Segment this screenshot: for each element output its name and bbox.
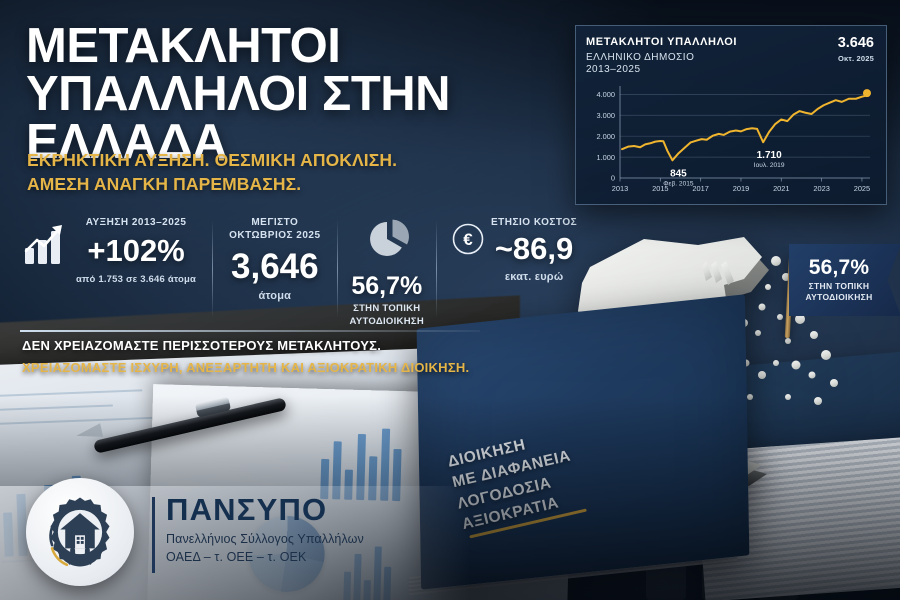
stat-local-government: 56,7% ΣΤΗΝ ΤΟΠΙΚΗ ΑΥΤΟΔΙΟΙΚΗΣΗ <box>350 216 424 320</box>
page-title: ΜΕΤΑΚΛΗΤΟΙ ΥΠΑΛΛΗΛΟΙ ΣΤΗΝ ΕΛΛΑΔΑ <box>26 22 586 166</box>
brand-description-line-1: Πανελλήνιος Σύλλογος Υπαλλήλων <box>166 532 466 546</box>
stat-increase-note: από 1.753 σε 3.646 άτομα <box>76 274 196 285</box>
chart-ytick-label: 3.000 <box>597 111 616 120</box>
chart-annotation-value: 845 <box>670 168 687 179</box>
brand-description-line-2: ΟΑΕΔ – τ. ΟΕΕ – τ. ΟΕΚ <box>166 550 466 564</box>
chart-xtick-label: 2017 <box>692 184 708 193</box>
message-line-1: ΔΕΝ ΧΡΕΙΑΖΟΜΑΣΤΕ ΠΕΡΙΣΣΟΤΕΡΟΥΣ ΜΕΤΑΚΛΗΤΟ… <box>22 338 542 353</box>
chart-period: 2013–2025 <box>586 64 737 75</box>
chart-plot-area: 01.0002.0003.0004.0002013201520172019202… <box>586 80 876 198</box>
stat-increase-value: +102% <box>87 235 184 266</box>
svg-text:€: € <box>463 230 473 249</box>
pie-chart-icon <box>358 216 416 267</box>
chart-highlight-date: Οκτ. 2025 <box>838 54 874 63</box>
stat-annual-cost: € ΕΤΗΣΙΟ ΚΟΣΤΟΣ ~86,9 εκατ. ευρώ <box>451 216 577 320</box>
call-to-action-message: ΔΕΝ ΧΡΕΙΑΖΟΜΑΣΤΕ ΠΕΡΙΣΣΟΤΕΡΟΥΣ ΜΕΤΑΚΛΗΤΟ… <box>22 338 542 375</box>
headline-line-1: ΜΕΤΑΚΛΗΤΟΙ <box>26 19 340 73</box>
chart-xtick-label: 2019 <box>733 184 749 193</box>
stat-annual-cost-note: εκατ. ευρώ <box>505 271 564 283</box>
chart-ytick-label: 1.000 <box>597 153 616 162</box>
organization-branding: ΠΑΝΣΥΠΟ Πανελλήνιος Σύλλογος Υπαλλήλων Ο… <box>166 494 466 564</box>
chart-header: ΜΕΤΑΚΛΗΤΟΙ ΥΠΑΛΛΗΛΟΙ ΕΛΛΗΝΙΚΟ ΔΗΜΟΣΙΟ 20… <box>586 36 874 75</box>
stat-increase-label: ΑΥΞΗΣΗ 2013–2025 <box>86 216 187 229</box>
chart-highlight-value: 3.646 <box>838 36 874 51</box>
chart-xtick-label: 2013 <box>612 184 628 193</box>
stat-divider-2 <box>337 220 338 318</box>
message-divider <box>20 330 480 332</box>
euro-circle-icon: € <box>451 216 485 320</box>
subheadline: ΕΚΡΗΚΤΙΚΗ ΑΥΞΗΣΗ. ΘΕΣΜΙΚΗ ΑΠΟΚΛΙΣΗ. ΑΜΕΣ… <box>27 148 547 196</box>
stat-annual-cost-value: ~86,9 <box>495 233 573 264</box>
chart-annotation-value: 1.710 <box>757 150 782 161</box>
message-line-2: ΧΡΕΙΑΖΟΜΑΣΤΕ ΙΣΧΥΡΗ, ΑΝΕΞΑΡΤΗΤΗ ΚΑΙ ΑΞΙΟ… <box>22 360 542 375</box>
chart-xtick-label: 2021 <box>773 184 789 193</box>
stat-divider-3 <box>436 220 437 318</box>
chart-ytick-label: 2.000 <box>597 132 616 141</box>
stat-annual-cost-label: ΕΤΗΣΙΟ ΚΟΣΤΟΣ <box>491 216 577 229</box>
logo-separator <box>152 497 155 573</box>
stat-peak-label-2: ΟΚΤΩΒΡΙΟΣ 2025 <box>229 229 320 242</box>
chart-highlight: 3.646 Οκτ. 2025 <box>838 36 874 63</box>
chart-titles: ΜΕΤΑΚΛΗΤΟΙ ΥΠΑΛΛΗΛΟΙ ΕΛΛΗΝΙΚΟ ΔΗΜΟΣΙΟ 20… <box>586 36 737 75</box>
chart-ytick-label: 4.000 <box>597 90 616 99</box>
gear-house-hands-logo-icon <box>26 478 134 586</box>
stat-local-government-value: 56,7% <box>351 274 422 299</box>
stat-divider-1 <box>212 220 213 318</box>
stat-local-government-sub-2: ΑΥΤΟΔΙΟΙΚΗΣΗ <box>350 316 424 329</box>
line-chart-panel: ΜΕΤΑΚΛΗΤΟΙ ΥΠΑΛΛΗΛΟΙ ΕΛΛΗΝΙΚΟ ΔΗΜΟΣΙΟ 20… <box>575 25 887 205</box>
stat-local-government-subtitle: ΣΤΗΝ ΤΟΠΙΚΗ ΑΥΤΟΔΙΟΙΚΗΣΗ <box>350 303 424 328</box>
bar-chart-growth-icon <box>22 216 68 320</box>
chart-title: ΜΕΤΑΚΛΗΤΟΙ ΥΠΑΛΛΗΛΟΙ <box>586 36 737 50</box>
chart-annotation-date: Ιουλ. 2019 <box>754 162 785 169</box>
chart-ytick-label: 0 <box>611 173 615 182</box>
subheadline-line-1: ΕΚΡΗΚΤΙΚΗ ΑΥΞΗΣΗ. ΘΕΣΜΙΚΗ ΑΠΟΚΛΙΣΗ. <box>27 148 547 172</box>
stat-peak-label-1: ΜΕΓΙΣΤΟ <box>251 216 298 229</box>
chart-xtick-label: 2023 <box>813 184 829 193</box>
chart-xtick-label: 2025 <box>854 184 870 193</box>
chart-subtitle: ΕΛΛΗΝΙΚΟ ΔΗΜΟΣΙΟ <box>586 52 737 63</box>
subheadline-line-2: ΑΜΕΣΗ ΑΝΑΓΚΗ ΠΑΡΕΜΒΑΣΗΣ. <box>27 172 547 196</box>
chart-endpoint-marker <box>863 89 871 97</box>
key-statistics-row: ΑΥΞΗΣΗ 2013–2025 +102% από 1.753 σε 3.64… <box>18 216 578 320</box>
brand-name: ΠΑΝΣΥΠΟ <box>166 494 466 525</box>
stat-local-government-sub-1: ΣΤΗΝ ΤΟΠΙΚΗ <box>350 303 424 316</box>
chart-series-line <box>622 95 867 160</box>
stat-peak-value: 3,646 <box>231 249 319 284</box>
chart-annotation-date: Φεβ. 2015 <box>663 180 694 187</box>
stat-peak-note: άτομα <box>259 290 292 302</box>
stat-increase: ΑΥΞΗΣΗ 2013–2025 +102% από 1.753 σε 3.64… <box>18 216 196 320</box>
stat-peak: ΜΕΓΙΣΤΟ ΟΚΤΩΒΡΙΟΣ 2025 3,646 άτομα <box>229 216 320 320</box>
